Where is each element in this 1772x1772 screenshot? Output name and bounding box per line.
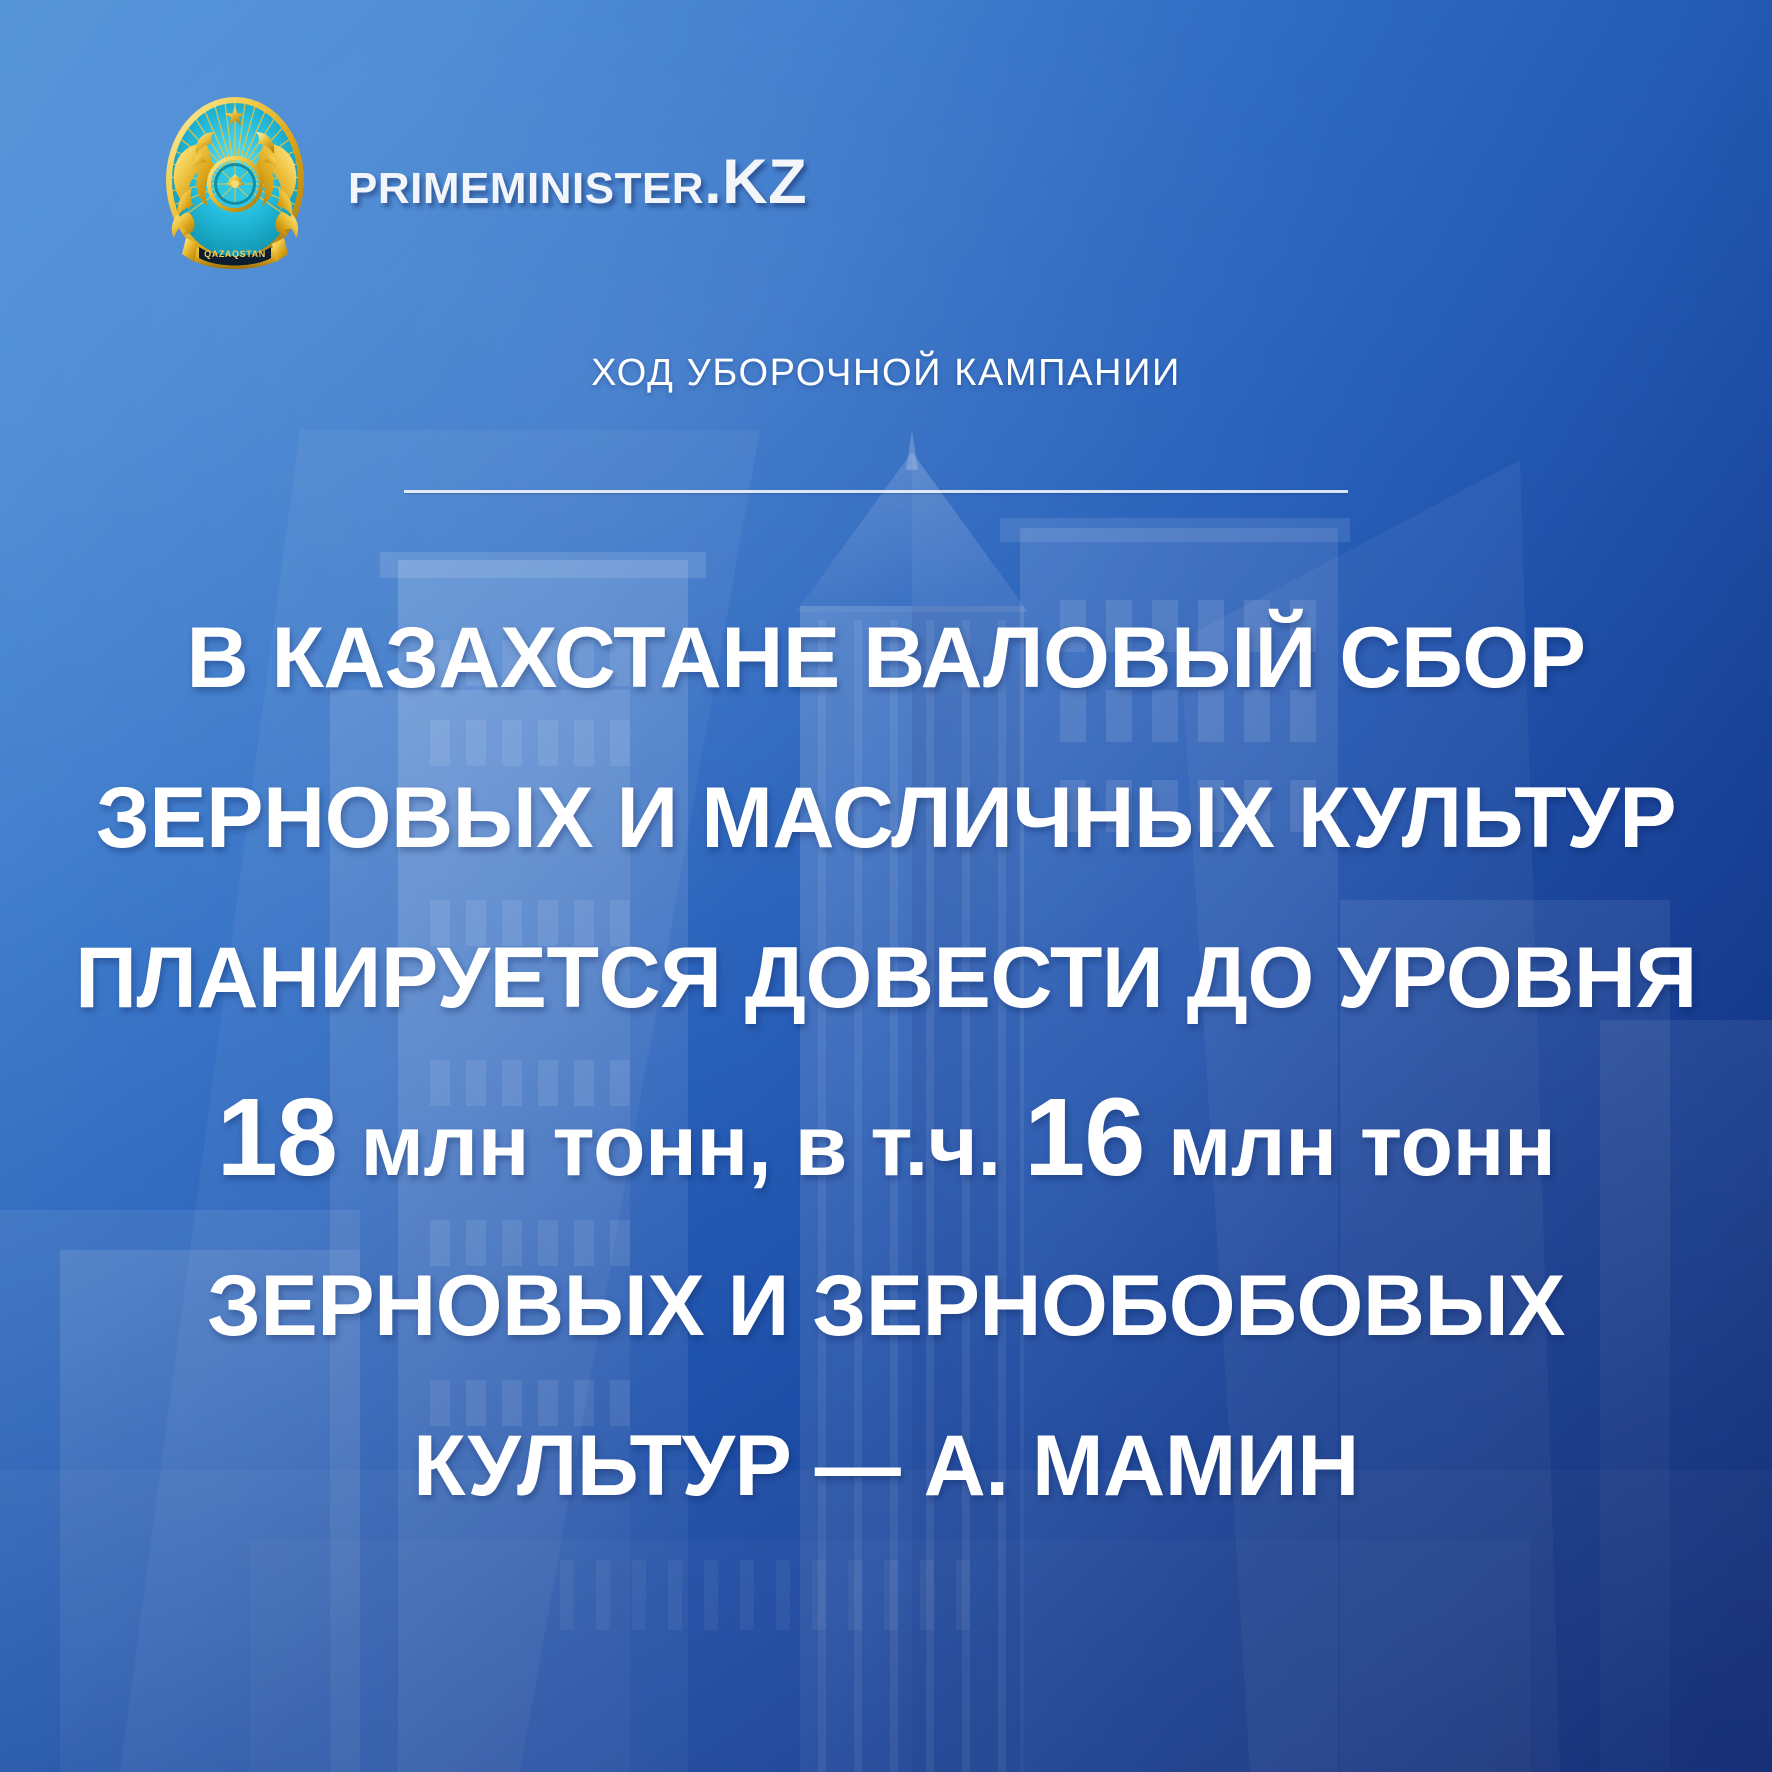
figure-connector: в т.ч. [795, 1098, 1001, 1194]
figure-total-unit: млн тонн, [360, 1098, 771, 1194]
headline-block: В КАЗАХСТАНЕ ВАЛОВЫЙ СБОР ЗЕРНОВЫХ И МАС… [70, 578, 1702, 1546]
brand-wordmark[interactable]: PrimeMinister.KZ [348, 151, 807, 214]
figure-total-value: 18 [217, 1076, 337, 1199]
figure-grain-value: 16 [1024, 1076, 1144, 1199]
brand-tld: .KZ [704, 147, 807, 217]
brand-name: PrimeMinister [348, 147, 704, 217]
headline-line-2: ЗЕРНОВЫХ И МАСЛИЧНЫХ КУЛЬТУР [70, 738, 1702, 898]
site-header: QAZAQSTAN PrimeMinister.KZ [152, 92, 807, 272]
section-subtitle: ХОД УБОРОЧНОЙ КАМПАНИИ [0, 352, 1772, 395]
emblem-ribbon-text: QAZAQSTAN [204, 249, 266, 259]
kazakhstan-coat-of-arms-icon: QAZAQSTAN [152, 92, 318, 272]
figure-grain-unit: млн тонн [1168, 1098, 1556, 1194]
headline-figures-line: 18 млн тонн, в т.ч. 16 млн тонн [70, 1058, 1702, 1226]
headline-line-5: ЗЕРНОВЫХ И ЗЕРНОБОБОВЫХ [70, 1226, 1702, 1386]
headline-line-1: В КАЗАХСТАНЕ ВАЛОВЫЙ СБОР [70, 578, 1702, 738]
headline-line-6: КУЛЬТУР — А. МАМИН [70, 1386, 1702, 1546]
infographic-card: QAZAQSTAN PrimeMinister.KZ ХОД УБОРОЧНОЙ… [0, 0, 1772, 1772]
headline-line-3: ПЛАНИРУЕТСЯ ДОВЕСТИ ДО УРОВНЯ [70, 898, 1702, 1058]
header-divider-rule [404, 490, 1348, 493]
